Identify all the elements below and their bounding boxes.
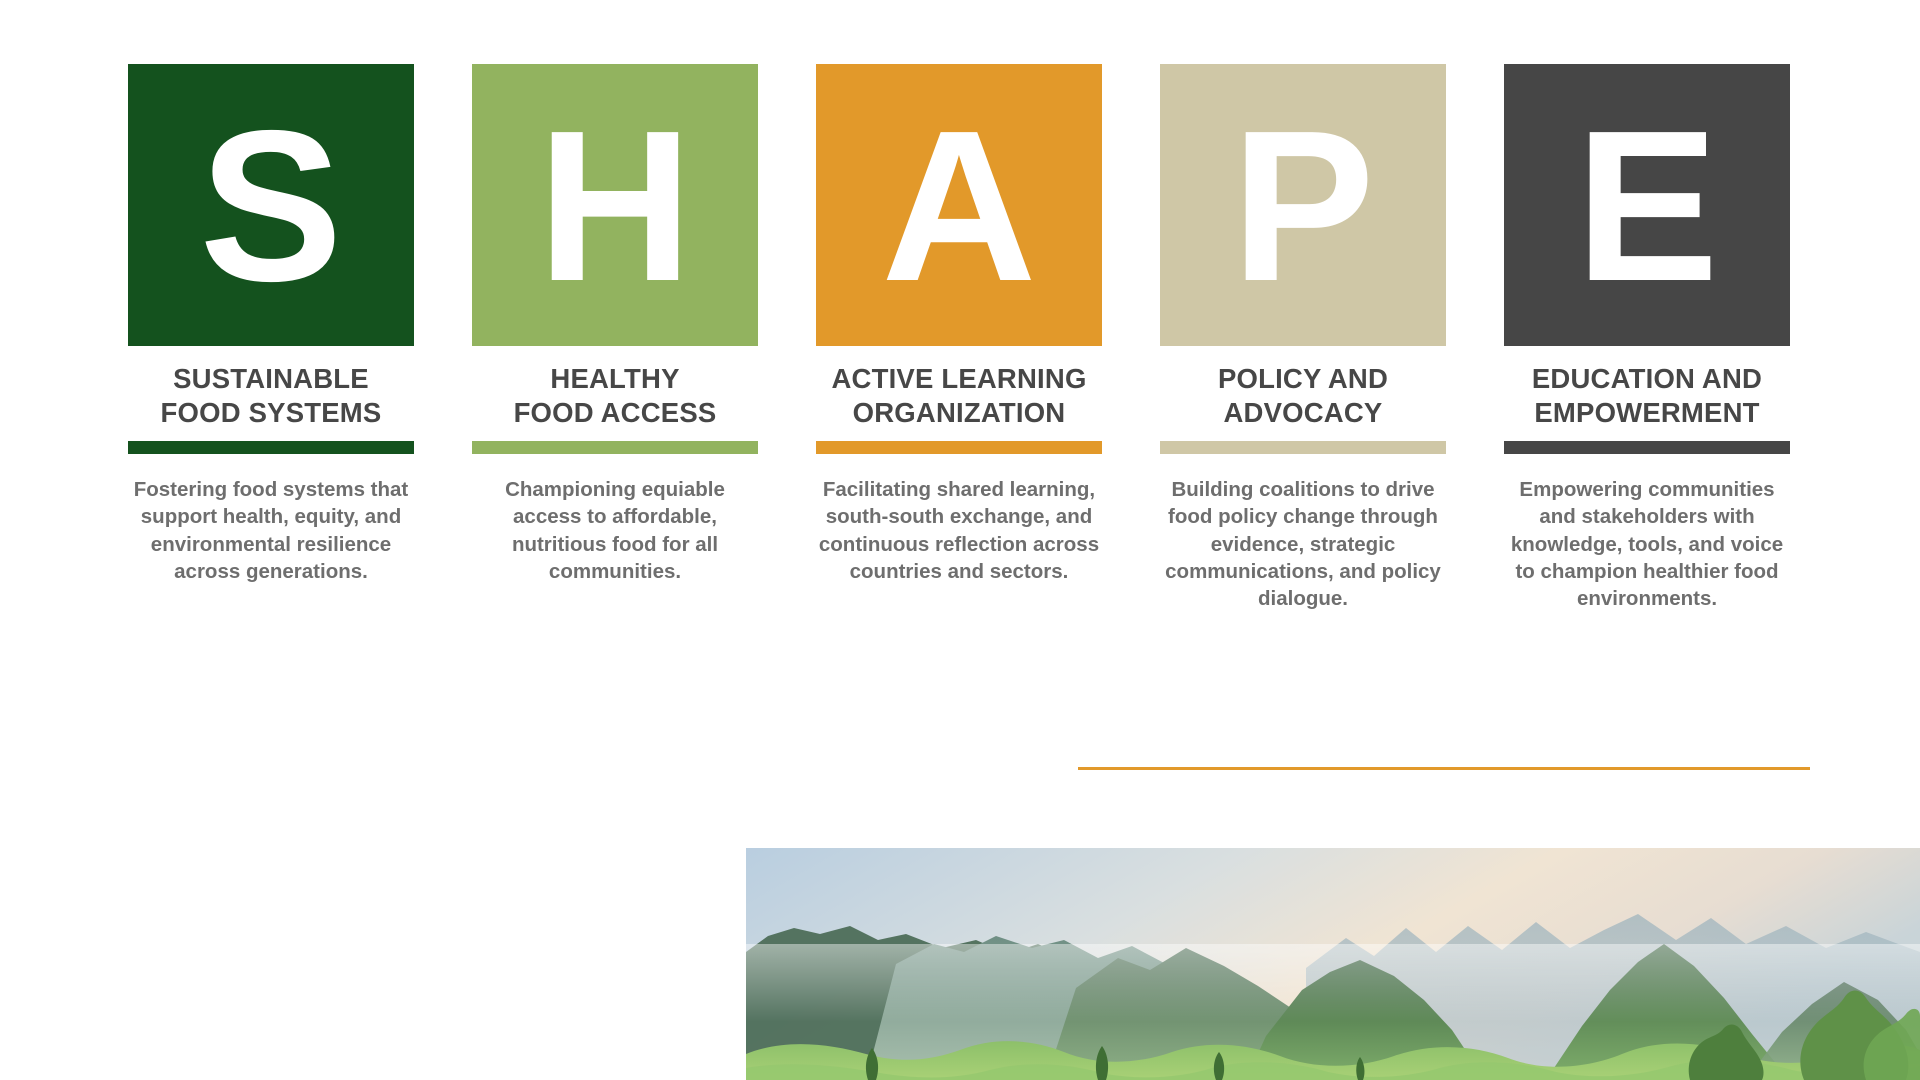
pillar-title-s: SUSTAINABLE FOOD SYSTEMS [128,362,414,429]
pillar-title-a: ACTIVE LEARNING ORGANIZATION [816,362,1102,429]
pillar-card-a: A ACTIVE LEARNING ORGANIZATION Facilitat… [816,64,1102,585]
pillar-tile-a: A [816,64,1102,346]
landscape-photo-image [746,848,1920,1080]
pillar-letter-s: S [199,98,342,313]
pillar-card-h: H HEALTHY FOOD ACCESS Championing equiab… [472,64,758,585]
pillar-tile-p: P [1160,64,1446,346]
pillar-description-a: Facilitating shared learning, south-sout… [816,476,1102,585]
pillar-description-e: Empowering communities and stakeholders … [1504,476,1790,612]
pillar-rule-p [1160,441,1446,454]
pillar-description-p: Building coalitions to drive food policy… [1160,476,1446,612]
pillar-rule-e [1504,441,1790,454]
pillar-title-p: POLICY AND ADVOCACY [1160,362,1446,429]
pillar-rule-h [472,441,758,454]
pillar-description-h: Championing equiable access to affordabl… [472,476,758,585]
shape-pillars-row: S SUSTAINABLE FOOD SYSTEMS Fostering foo… [128,64,1792,612]
pillar-description-s: Fostering food systems that support heal… [128,476,414,585]
landscape-photo [746,848,1920,1080]
pillar-card-p: P POLICY AND ADVOCACY Building coalition… [1160,64,1446,612]
pillar-letter-a: A [881,98,1036,313]
pillar-rule-s [128,441,414,454]
pillar-title-h: HEALTHY FOOD ACCESS [472,362,758,429]
pillar-title-e: EDUCATION AND EMPOWERMENT [1504,362,1790,429]
pillar-letter-e: E [1575,98,1718,313]
orange-divider-rule [1078,767,1810,770]
pillar-letter-h: H [537,98,692,313]
pillar-rule-a [816,441,1102,454]
pillar-card-e: E EDUCATION AND EMPOWERMENT Empowering c… [1504,64,1790,612]
pillar-card-s: S SUSTAINABLE FOOD SYSTEMS Fostering foo… [128,64,414,585]
pillar-tile-s: S [128,64,414,346]
pillar-tile-e: E [1504,64,1790,346]
pillar-letter-p: P [1231,98,1374,313]
pillar-tile-h: H [472,64,758,346]
